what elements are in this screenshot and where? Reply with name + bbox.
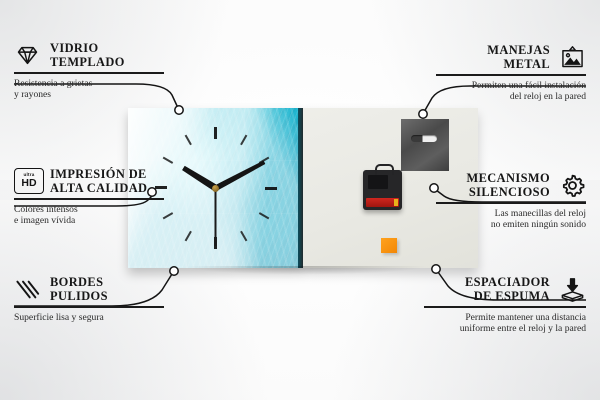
feature-callout-espaciador-espuma: ESPACIADOR DE ESPUMA Permite mantener un…: [424, 276, 586, 335]
arrow-down-stack-icon: [559, 276, 586, 303]
clock-tick: [216, 187, 277, 189]
feature-callout-vidrio-templado: VIDRIO TEMPLADO Resistencia a grietas y …: [14, 42, 164, 101]
feature-rule: [436, 202, 586, 204]
feature-title: VIDRIO TEMPLADO: [50, 42, 125, 69]
product-image: [128, 108, 478, 268]
gear-icon: [559, 172, 586, 199]
feature-rule: [14, 198, 164, 200]
diagonal-lines-icon: [14, 276, 41, 303]
movement-body: [368, 175, 388, 189]
infographic-canvas: VIDRIO TEMPLADO Resistencia a grietas y …: [0, 0, 600, 400]
feature-rule: [436, 74, 586, 76]
ultra-hd-icon-large-text: HD: [21, 178, 36, 189]
diamond-icon: [14, 42, 41, 69]
feature-callout-impresion-alta-calidad: ultra HD IMPRESIÓN DE ALTA CALIDAD Color…: [14, 168, 164, 227]
feature-title: ESPACIADOR DE ESPUMA: [465, 276, 550, 303]
feature-title: MANEJAS METAL: [487, 44, 550, 71]
feature-title: BORDES PULIDOS: [50, 276, 108, 303]
clock-tick: [215, 127, 217, 188]
feature-description: Colores intensos e imagen vívida: [14, 204, 164, 227]
battery: [366, 198, 399, 207]
feature-rule: [424, 306, 586, 308]
hanger-slot: [411, 135, 437, 142]
clock-second-hand: [215, 188, 217, 246]
feature-description: Permite mantener una distancia uniforme …: [424, 312, 586, 335]
feature-description: Las manecillas del reloj no emiten ningú…: [436, 208, 586, 231]
metal-hanger-plate: [401, 119, 449, 171]
ultra-hd-icon: ultra HD: [14, 168, 41, 195]
clock-center-cap: [212, 185, 219, 192]
feature-title: MECANISMO SILENCIOSO: [467, 172, 550, 199]
feature-description: Superficie lisa y segura: [14, 312, 164, 323]
movement-hook: [375, 164, 394, 175]
feature-rule: [14, 306, 164, 308]
feature-callout-mecanismo-silencioso: MECANISMO SILENCIOSO Las manecillas del …: [436, 172, 586, 231]
quartz-movement: [363, 170, 402, 210]
feature-description: Resistencia a grietas y rayones: [14, 78, 164, 101]
feature-description: Permiten una fácil instalación del reloj…: [436, 80, 586, 103]
product-shadow: [134, 266, 474, 278]
picture-frame-icon: [559, 44, 586, 71]
foam-spacer: [381, 238, 397, 253]
feature-callout-manejas-metal: MANEJAS METAL Permiten una fácil instala…: [436, 44, 586, 103]
feature-title: IMPRESIÓN DE ALTA CALIDAD: [50, 168, 147, 195]
feature-callout-bordes-pulidos: BORDES PULIDOS Superficie lisa y segura: [14, 276, 164, 323]
feature-rule: [14, 72, 164, 74]
